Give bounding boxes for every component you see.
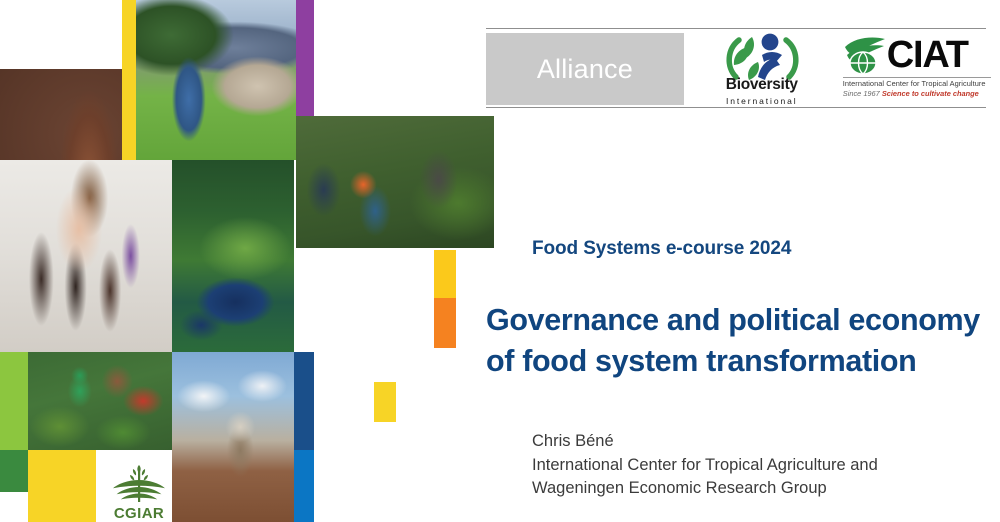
purple-bar (296, 0, 314, 116)
photo-field-training-group (296, 116, 494, 248)
author-affiliation-1: International Center for Tropical Agricu… (532, 454, 878, 478)
photo-market-vendor (28, 352, 172, 450)
cgiar-wheat-icon (106, 462, 172, 506)
bioversity-name: Bioversity (706, 76, 818, 94)
photo-vegetable-flatlay (314, 33, 396, 116)
navy-bar (294, 352, 314, 450)
photo-farmer-in-soil (172, 352, 294, 522)
light-green-block (0, 352, 28, 450)
cgiar-wordmark: CGIAR (106, 505, 172, 522)
page-title: Governance and political economy of food… (486, 300, 996, 381)
ciat-divider (843, 77, 991, 78)
ciat-wordmark: CIAT (887, 34, 968, 77)
photo-mosaic: CGIAR (0, 0, 500, 522)
yellow-bar-right (434, 250, 456, 298)
author-affiliation-2: Wageningen Economic Research Group (532, 477, 878, 501)
yellow-block-bottom (28, 450, 96, 522)
cgiar-logo: CGIAR (106, 462, 172, 522)
content-panel: Alliance Bioversity International (500, 0, 1000, 522)
alliance-logo-placeholder: Alliance (486, 33, 684, 105)
ciat-tagline-since: Since 1967 (843, 89, 882, 98)
photo-cattle-and-farmer (136, 0, 296, 160)
author-block: Chris Béné International Center for Trop… (532, 430, 878, 501)
page-title-line-2: of food system transformation (486, 341, 996, 382)
ciat-globe-leaf-icon (841, 33, 889, 77)
ciat-tagline-secondary: Since 1967 Science to cultivate change (843, 89, 979, 98)
photo-andean-quinoa-farmer (294, 250, 434, 352)
ciat-tagline-primary: International Center for Tropical Agricu… (843, 79, 986, 88)
orange-bar-right (434, 298, 456, 348)
photo-agri-drone (314, 352, 394, 450)
author-name: Chris Béné (532, 430, 878, 454)
bioversity-logo: Bioversity International (706, 29, 818, 107)
logo-header: Alliance Bioversity International (486, 28, 986, 108)
slide-canvas: CGIAR Alliance Bioversity (0, 0, 1000, 522)
ciat-tagline-slogan: Science to cultivate change (882, 89, 979, 98)
page-title-line-1: Governance and political economy (486, 300, 996, 341)
photo-aerial-river-forest (172, 160, 294, 352)
bioversity-subname: International (706, 96, 818, 106)
blue-bar (294, 450, 314, 522)
dark-green-block (0, 450, 28, 492)
course-subtitle: Food Systems e-course 2024 (532, 238, 791, 260)
photo-lab-scientist (0, 160, 172, 352)
alliance-label: Alliance (537, 54, 633, 85)
ciat-logo: CIAT International Center for Tropical A… (841, 31, 986, 105)
